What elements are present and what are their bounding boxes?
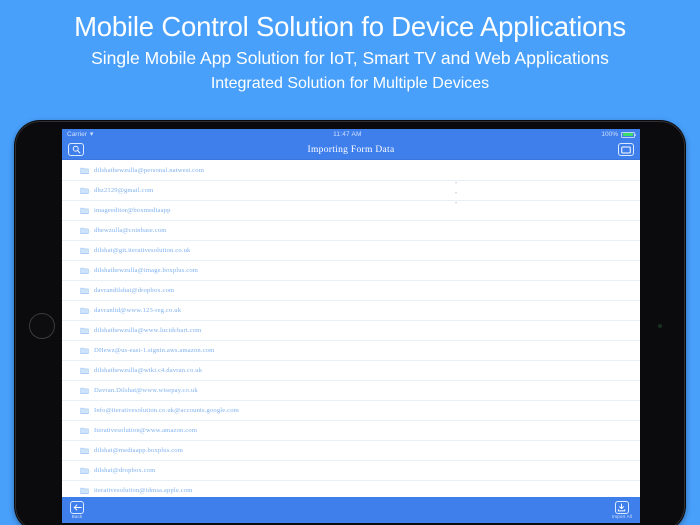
list-item[interactable]: davrandilshat@dropbox.com [62, 281, 640, 301]
list-item-label: iterativesolution@idmsa.apple.com [94, 487, 193, 494]
device-screen: Carrier ▾ 11:47 AM 100% Importing Form D… [62, 129, 640, 523]
list-item-label: DHewz@us-east-1.signin.aws.amazon.com [94, 347, 214, 354]
list-item[interactable]: dilshathewzulla@wiki.c4.davran.co.uk [62, 361, 640, 381]
list-item[interactable]: iterativesolution@idmsa.apple.com [62, 481, 640, 497]
back-button[interactable]: Back [70, 501, 84, 520]
file-icon [80, 166, 89, 175]
list-item-label: dhewzulla@coinbase.com [94, 227, 167, 234]
nav-bar: Importing Form Data [62, 140, 640, 160]
back-button-label: Back [72, 514, 83, 520]
file-icon [80, 406, 89, 415]
file-icon [80, 286, 89, 295]
file-icon [80, 386, 89, 395]
list-item[interactable]: dhz2129@gmail.com [62, 181, 640, 201]
promo-title: Mobile Control Solution fo Device Applic… [0, 11, 700, 43]
file-icon [80, 466, 89, 475]
list-item-label: Davran.Dilshat@www.wisepay.co.uk [94, 387, 198, 394]
file-icon [80, 346, 89, 355]
page-title: Importing Form Data [84, 145, 618, 155]
front-camera-icon [658, 324, 662, 328]
list-item-label: dhz2129@gmail.com [94, 187, 153, 194]
list-item[interactable]: dilshathewzulla@www.lucidchart.com [62, 321, 640, 341]
list-item[interactable]: Davran.Dilshat@www.wisepay.co.uk [62, 381, 640, 401]
list-item[interactable]: dhewzulla@coinbase.com [62, 221, 640, 241]
status-bar-time: 11:47 AM [93, 129, 601, 140]
home-button[interactable] [29, 313, 55, 339]
list-item-label: dilshathewzulla@www.lucidchart.com [94, 327, 201, 334]
file-icon [80, 206, 89, 215]
list-item-label: dilshathewzulla@wiki.c4.davran.co.uk [94, 367, 202, 374]
file-icon [80, 266, 89, 275]
file-icon [80, 486, 89, 495]
file-icon [80, 366, 89, 375]
import-list[interactable]: dilshathewzulla@personal.natwest.comdhz2… [62, 160, 640, 497]
list-item-label: Info@iterativesolution.co.uk@accounts.go… [94, 407, 239, 414]
status-bar-left: Carrier ▾ [67, 129, 93, 140]
list-item-label: davranltd@www.123-reg.co.uk [94, 307, 181, 314]
download-icon [615, 501, 629, 514]
list-item[interactable]: davranltd@www.123-reg.co.uk [62, 301, 640, 321]
list-item-label: dilshathewzulla@image.boxplus.com [94, 267, 198, 274]
status-bar-right: 100% [601, 129, 635, 140]
file-icon [80, 426, 89, 435]
search-button[interactable] [68, 143, 84, 156]
carrier-label: Carrier [67, 129, 87, 140]
list-item[interactable]: DHewz@us-east-1.signin.aws.amazon.com [62, 341, 640, 361]
display-icon [621, 146, 631, 154]
list-item[interactable]: dilshathewzulla@image.boxplus.com [62, 261, 640, 281]
tablet-device-frame: Carrier ▾ 11:47 AM 100% Importing Form D… [14, 120, 686, 525]
import-all-button-label: Import All [612, 514, 632, 520]
list-item-label: dilshathewzulla@personal.natwest.com [94, 167, 204, 174]
scroll-indicator: ••• [450, 179, 462, 213]
file-icon [80, 326, 89, 335]
list-item[interactable]: imageeditor@boxmediaapp [62, 201, 640, 221]
list-item-label: davrandilshat@dropbox.com [94, 287, 174, 294]
file-icon [80, 246, 89, 255]
list-item-label: dilshat@dropbox.com [94, 467, 155, 474]
file-icon [80, 186, 89, 195]
list-item[interactable]: dilshat@dropbox.com [62, 461, 640, 481]
list-item-label: imageeditor@boxmediaapp [94, 207, 171, 214]
search-icon [72, 145, 81, 154]
promo-header: Mobile Control Solution fo Device Applic… [0, 0, 700, 96]
list-item[interactable]: Info@iterativesolution.co.uk@accounts.go… [62, 401, 640, 421]
arrow-left-icon [70, 501, 84, 514]
list-item-label: Iterativesolution@www.amazon.com [94, 427, 197, 434]
file-icon [80, 446, 89, 455]
file-icon [80, 226, 89, 235]
status-bar: Carrier ▾ 11:47 AM 100% [62, 129, 640, 140]
list-item-label: dilshat@mediaapp.boxplus.com [94, 447, 183, 454]
battery-percent-label: 100% [601, 129, 618, 140]
battery-icon [621, 132, 635, 138]
list-item[interactable]: dilshat@git.iterativesolution.co.uk [62, 241, 640, 261]
list-item-label: dilshat@git.iterativesolution.co.uk [94, 247, 190, 254]
display-button[interactable] [618, 143, 634, 156]
list-item[interactable]: dilshathewzulla@personal.natwest.com [62, 161, 640, 181]
import-all-button[interactable]: Import All [612, 501, 632, 520]
list-item[interactable]: dilshat@mediaapp.boxplus.com [62, 441, 640, 461]
file-icon [80, 306, 89, 315]
promo-subtitle-primary: Single Mobile App Solution for IoT, Smar… [0, 45, 700, 71]
list-item[interactable]: Iterativesolution@www.amazon.com [62, 421, 640, 441]
bottom-toolbar: Back Import All [62, 497, 640, 523]
promo-subtitle-secondary: Integrated Solution for Multiple Devices [0, 72, 700, 96]
